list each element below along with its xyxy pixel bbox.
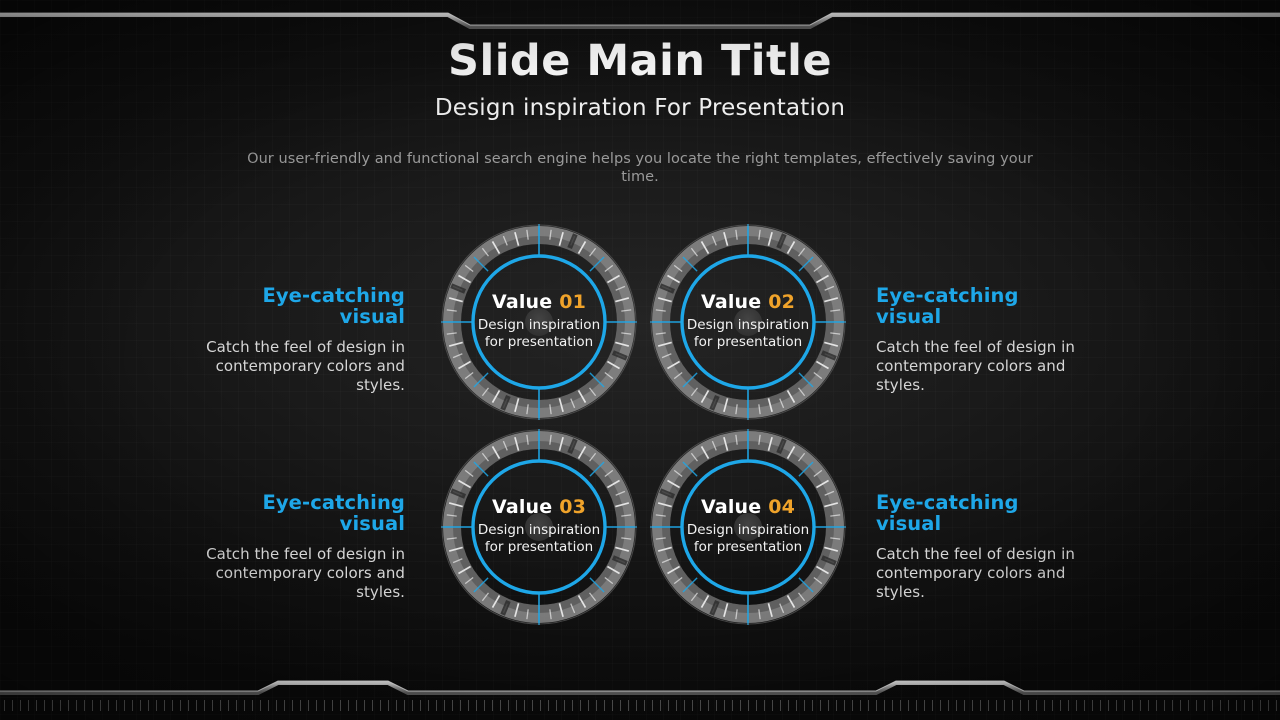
slide-canvas: Slide Main Title Design inspiration For … [0, 0, 1280, 720]
gauge-01-sub-line2: for presentation [478, 334, 600, 352]
page-subtitle: Design inspiration For Presentation [0, 96, 1280, 121]
gauge-04-sub-line1: Design inspiration [687, 522, 809, 540]
bottom-ruler-ticks [0, 700, 1280, 720]
gauge-04-value-number: 04 [768, 496, 795, 518]
callout-top-right-heading: Eye-catching visual [876, 285, 1090, 328]
gauge-03-sub-line1: Design inspiration [478, 522, 600, 540]
gauge-03[interactable]: Value 03 Design inspiration for presenta… [441, 429, 637, 625]
callout-top-right-body: Catch the feel of design in contemporary… [876, 338, 1090, 396]
gauge-01-value: Value 01 [492, 292, 586, 313]
callout-bottom-right: Eye-catching visual Catch the feel of de… [876, 492, 1090, 602]
callout-top-right: Eye-catching visual Catch the feel of de… [876, 285, 1090, 395]
callout-bottom-right-body: Catch the feel of design in contemporary… [876, 545, 1090, 603]
gauge-04-sub-line2: for presentation [687, 539, 809, 557]
gauge-04-subtitle: Design inspiration for presentation [687, 522, 809, 557]
callout-bottom-left-body: Catch the feel of design in contemporary… [191, 545, 405, 603]
callout-top-left: Eye-catching visual Catch the feel of de… [191, 285, 405, 395]
callout-bottom-right-heading: Eye-catching visual [876, 492, 1090, 535]
gauge-03-sub-line2: for presentation [478, 539, 600, 557]
gauge-02-sub-line2: for presentation [687, 334, 809, 352]
gauge-02[interactable]: Value 02 Design inspiration for presenta… [650, 224, 846, 420]
callout-bottom-left-heading: Eye-catching visual [191, 492, 405, 535]
frame-bottom-line [0, 683, 1280, 693]
gauge-02-sub-line1: Design inspiration [687, 317, 809, 335]
callout-top-left-heading: Eye-catching visual [191, 285, 405, 328]
gauge-02-label: Value 02 Design inspiration for presenta… [650, 224, 846, 420]
gauge-01[interactable]: Value 01 Design inspiration for presenta… [441, 224, 637, 420]
gauge-04-label: Value 04 Design inspiration for presenta… [650, 429, 846, 625]
gauge-03-value: Value 03 [492, 497, 586, 518]
gauge-03-subtitle: Design inspiration for presentation [478, 522, 600, 557]
gauge-02-value-word: Value [701, 291, 761, 313]
slide-header: Slide Main Title Design inspiration For … [0, 40, 1280, 121]
page-title: Slide Main Title [0, 40, 1280, 83]
gauge-04[interactable]: Value 04 Design inspiration for presenta… [650, 429, 846, 625]
gauge-03-value-number: 03 [559, 496, 586, 518]
gauge-01-value-word: Value [492, 291, 552, 313]
lead-paragraph: Our user-friendly and functional search … [240, 151, 1040, 187]
gauge-01-value-number: 01 [559, 291, 586, 313]
callout-top-left-body: Catch the feel of design in contemporary… [191, 338, 405, 396]
gauge-01-subtitle: Design inspiration for presentation [478, 317, 600, 352]
gauge-04-value-word: Value [701, 496, 761, 518]
gauge-02-subtitle: Design inspiration for presentation [687, 317, 809, 352]
gauge-01-label: Value 01 Design inspiration for presenta… [441, 224, 637, 420]
gauge-03-label: Value 03 Design inspiration for presenta… [441, 429, 637, 625]
callout-bottom-left: Eye-catching visual Catch the feel of de… [191, 492, 405, 602]
gauge-02-value: Value 02 [701, 292, 795, 313]
gauge-03-value-word: Value [492, 496, 552, 518]
gauge-04-value: Value 04 [701, 497, 795, 518]
gauge-01-sub-line1: Design inspiration [478, 317, 600, 335]
frame-top-line [0, 15, 1280, 27]
gauge-02-value-number: 02 [768, 291, 795, 313]
